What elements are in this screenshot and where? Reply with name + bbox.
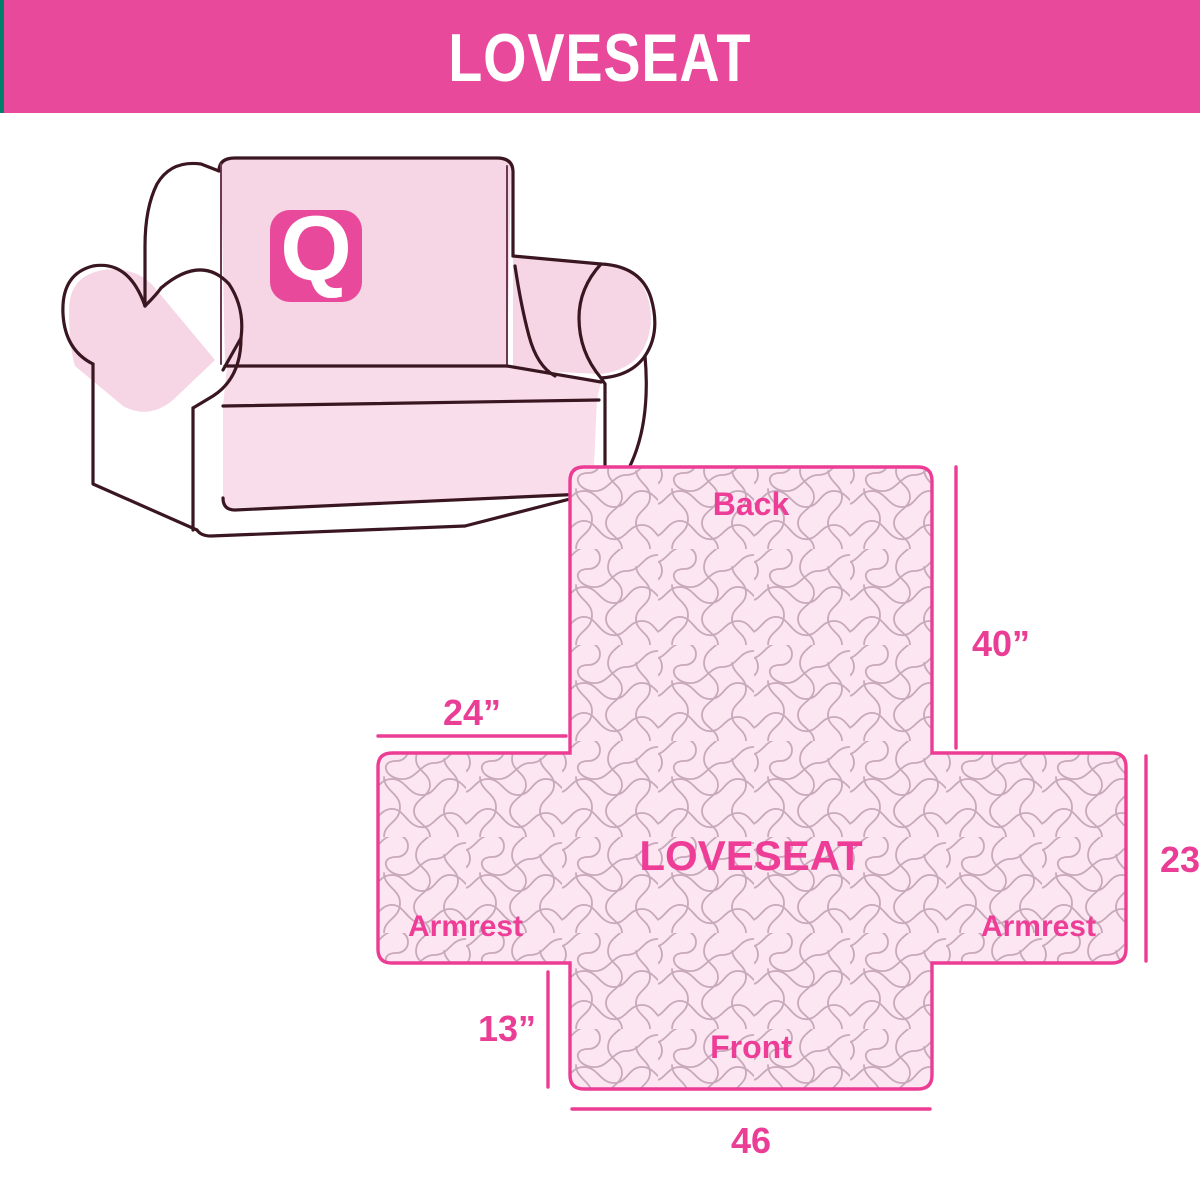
dimension-overall-width: 46 (572, 1109, 930, 1161)
dimension-seat-depth: 23” (1146, 756, 1200, 961)
loveseat-cover-diagram: Back LOVESEAT Armrest Armrest Front 40” … (370, 453, 1190, 1193)
dimension-label-24: 24” (443, 692, 501, 733)
logo-letter: Q (280, 198, 352, 300)
header-banner: LOVESEAT (0, 0, 1200, 113)
dimension-label-23: 23” (1160, 839, 1200, 880)
dimension-label-40: 40” (972, 623, 1030, 664)
header-accent-stripe (0, 0, 4, 113)
panel-label-front: Front (710, 1029, 792, 1065)
dimension-label-13: 13” (478, 1008, 536, 1049)
panel-label-armrest-left: Armrest (408, 910, 523, 943)
sofa-right-arm-fill (513, 256, 651, 374)
sofa-left-back-corner (145, 163, 219, 306)
page-title: LOVESEAT (449, 24, 752, 92)
panel-label-center: LOVESEAT (639, 832, 863, 879)
panel-label-back: Back (713, 486, 790, 522)
dimension-front-height: 13” (478, 972, 548, 1087)
dimension-armrest-width: 24” (378, 692, 566, 736)
panel-label-armrest-right: Armrest (981, 910, 1096, 943)
dimension-label-46: 46 (731, 1120, 771, 1161)
brand-logo: Q (270, 198, 362, 302)
diagram-stage: Q (0, 113, 1200, 1200)
sofa-left-arm-outer-fill (69, 269, 215, 411)
cover-cross-shape (378, 467, 1126, 1089)
dimension-back-height: 40” (956, 467, 1030, 748)
sofa-back-cushion-fill (221, 158, 511, 366)
